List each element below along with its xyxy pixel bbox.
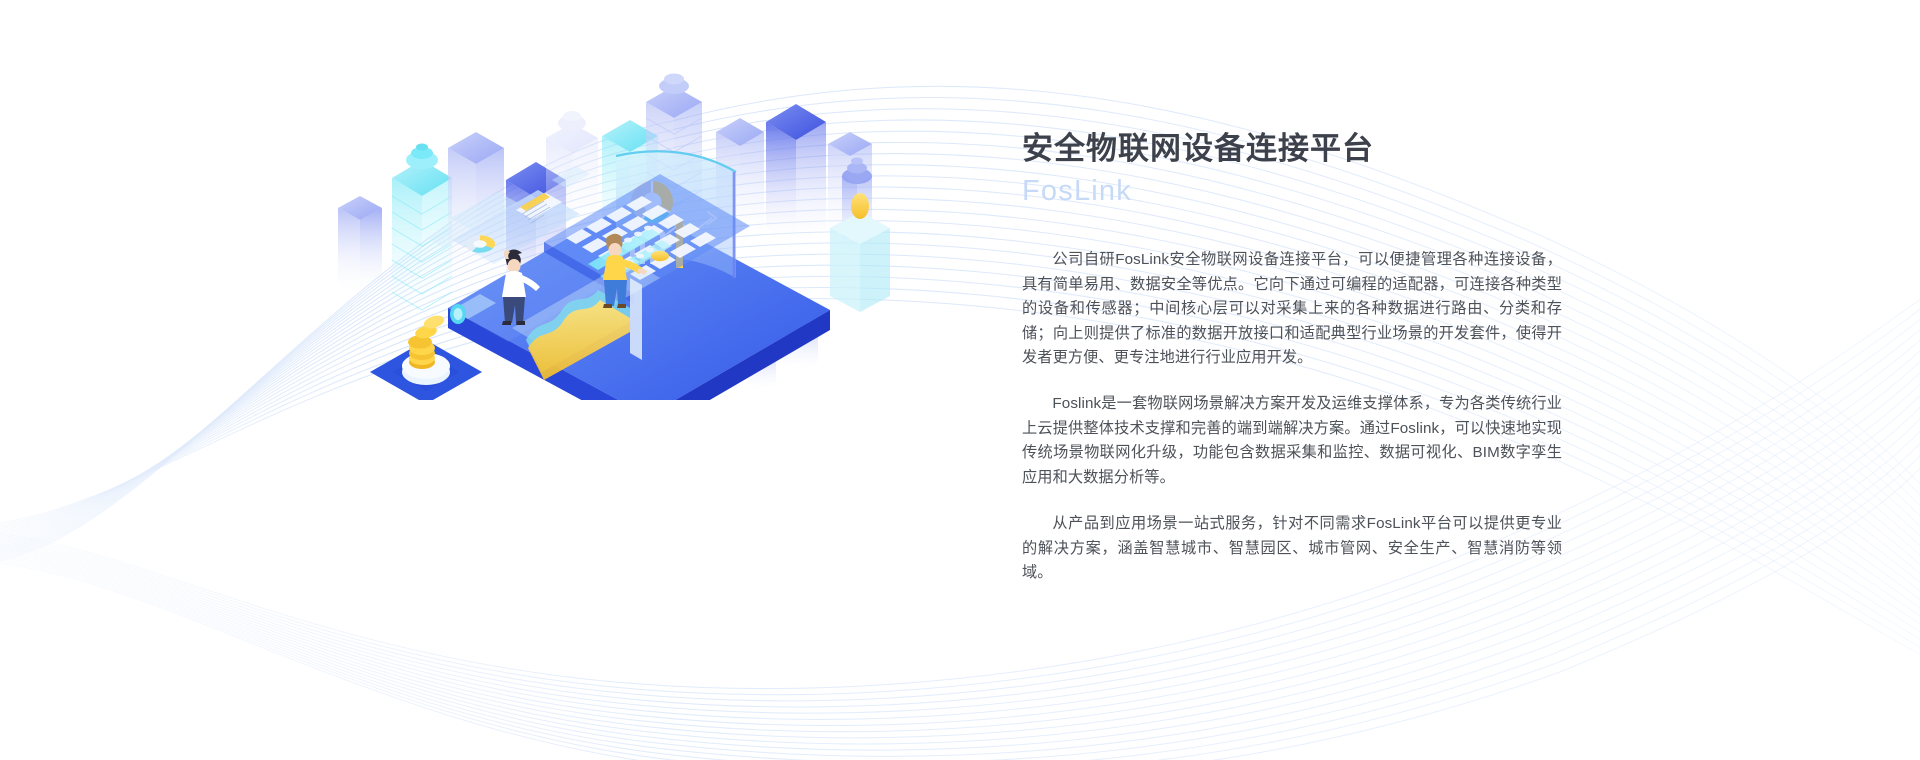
paragraph-1: 公司自研FosLink安全物联网设备连接平台，可以便捷管理各种连接设备，具有简单… — [1022, 248, 1562, 370]
background-wave-lines — [0, 0, 1920, 760]
page-title: 安全物联网设备连接平台 — [1022, 130, 1562, 169]
hero-section: 安全物联网设备连接平台 FosLink 公司自研FosLink安全物联网设备连接… — [0, 0, 1920, 760]
description-block: 公司自研FosLink安全物联网设备连接平台，可以便捷管理各种连接设备，具有简单… — [1022, 248, 1562, 585]
gold-token — [651, 251, 669, 261]
paragraph-3: 从产品到应用场景一站式服务，针对不同需求FosLink平台可以提供更专业的解决方… — [1022, 512, 1562, 585]
isometric-smart-city-illustration — [330, 60, 890, 400]
paragraph-2: Foslink是一套物联网场景解决方案开发及运维支撑体系，专为各类传统行业上云提… — [1022, 392, 1562, 490]
hero-copy: 安全物联网设备连接平台 FosLink 公司自研FosLink安全物联网设备连接… — [1022, 130, 1562, 585]
product-name: FosLink — [1022, 173, 1562, 211]
